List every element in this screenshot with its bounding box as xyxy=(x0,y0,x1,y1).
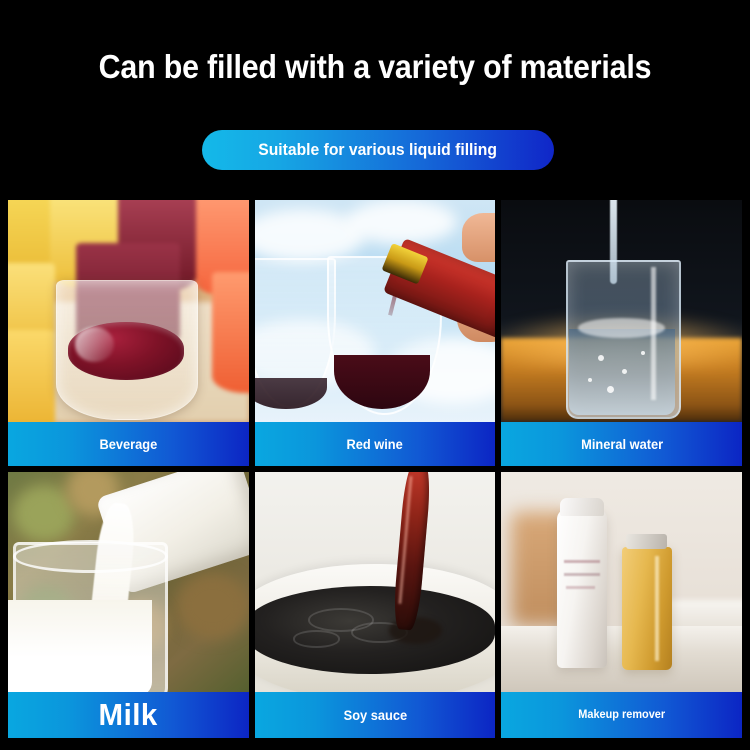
bubble xyxy=(622,369,627,374)
caption-label: Makeup remover xyxy=(578,709,665,721)
bokeh-shape xyxy=(176,573,248,639)
glass-rim xyxy=(13,540,168,572)
white-bottle-cap xyxy=(560,498,603,516)
gallery-card-mineral-water[interactable]: Mineral water xyxy=(501,200,742,466)
gallery-card-milk[interactable]: Milk xyxy=(8,472,249,738)
surface-ripple xyxy=(293,630,340,647)
gallery-card-makeup-remover[interactable]: Makeup remover xyxy=(501,472,742,738)
caption-bar-soy-sauce: Soy sauce xyxy=(255,692,496,738)
gallery-card-beverage[interactable]: Beverage xyxy=(8,200,249,466)
bottle-label-line xyxy=(564,573,600,576)
amber-toner-bottle xyxy=(622,547,673,670)
gallery-card-soy-sauce[interactable]: Soy sauce xyxy=(255,472,496,738)
soy-sauce-photo xyxy=(255,472,496,692)
water-pour-stream xyxy=(610,200,617,284)
juice-glass-icon xyxy=(8,330,55,422)
bubble xyxy=(641,351,645,355)
liquid-highlight xyxy=(75,327,114,363)
bottle-label-line xyxy=(566,586,595,589)
juice-glass-icon xyxy=(212,272,249,393)
caption-label: Mineral water xyxy=(581,437,663,452)
caption-bar-milk: Milk xyxy=(8,692,249,738)
beverage-photo xyxy=(8,200,249,422)
caption-bar-makeup-remover: Makeup remover xyxy=(501,692,742,738)
caption-label: Milk xyxy=(99,697,158,733)
caption-label: Soy sauce xyxy=(343,708,406,723)
wine-in-left-glass xyxy=(255,378,327,409)
bubble xyxy=(588,378,592,382)
red-wine-photo xyxy=(255,200,496,422)
glass-highlight xyxy=(651,267,656,400)
subtitle-badge-label: Suitable for various liquid filling xyxy=(259,141,498,160)
cloud-shape xyxy=(346,200,457,244)
caption-bar-beverage: Beverage xyxy=(8,422,249,466)
promo-page: Can be filled with a variety of material… xyxy=(0,0,750,750)
milk-photo xyxy=(8,472,249,692)
caption-bar-red-wine: Red wine xyxy=(255,422,496,466)
caption-label: Beverage xyxy=(99,437,157,452)
milk-body xyxy=(8,600,152,692)
amber-bottle-cap xyxy=(626,534,667,549)
caption-label: Red wine xyxy=(347,437,403,452)
bottle-label-line xyxy=(564,560,600,563)
wine-in-right-glass xyxy=(334,355,430,408)
page-title: Can be filled with a variety of material… xyxy=(30,48,720,86)
mineral-water-photo xyxy=(501,200,742,422)
gallery-card-red-wine[interactable]: Red wine xyxy=(255,200,496,466)
caption-bar-mineral-water: Mineral water xyxy=(501,422,742,466)
bottle-highlight xyxy=(655,556,659,662)
hand-shape xyxy=(462,213,496,262)
makeup-remover-photo xyxy=(501,472,742,692)
subtitle-badge: Suitable for various liquid filling xyxy=(202,130,554,170)
material-gallery-grid: Beverage Red wine xyxy=(8,200,742,738)
